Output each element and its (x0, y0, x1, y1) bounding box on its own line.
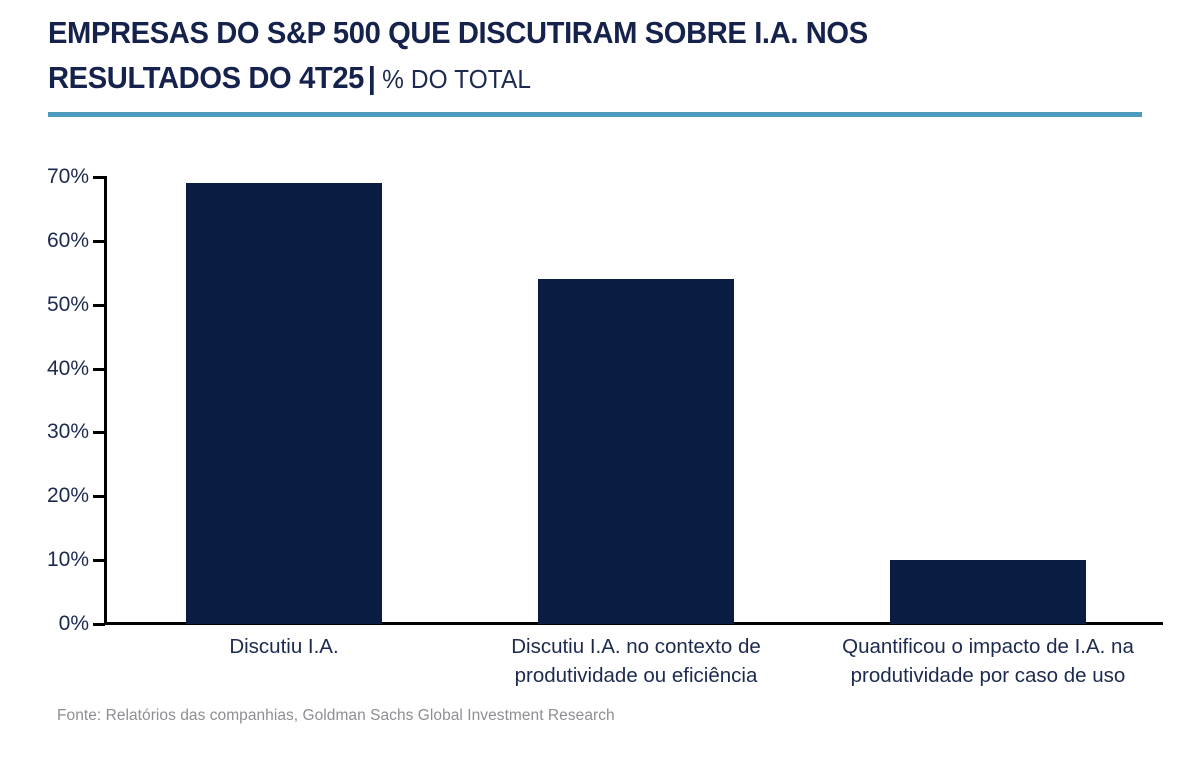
bar (186, 183, 382, 624)
bar (890, 560, 1086, 624)
bars-layer (0, 0, 1192, 624)
x-axis-category-label: Quantificou o impacto de I.A. na produti… (838, 632, 1138, 690)
bar-chart: EMPRESAS DO S&P 500 QUE DISCUTIRAM SOBRE… (0, 0, 1192, 765)
x-axis-category-label: Discutiu I.A. no contexto de produtivida… (486, 632, 786, 690)
x-axis-category-label: Discutiu I.A. (134, 632, 434, 661)
source-note: Fonte: Relatórios das companhias, Goldma… (57, 707, 615, 725)
bar (538, 279, 734, 624)
